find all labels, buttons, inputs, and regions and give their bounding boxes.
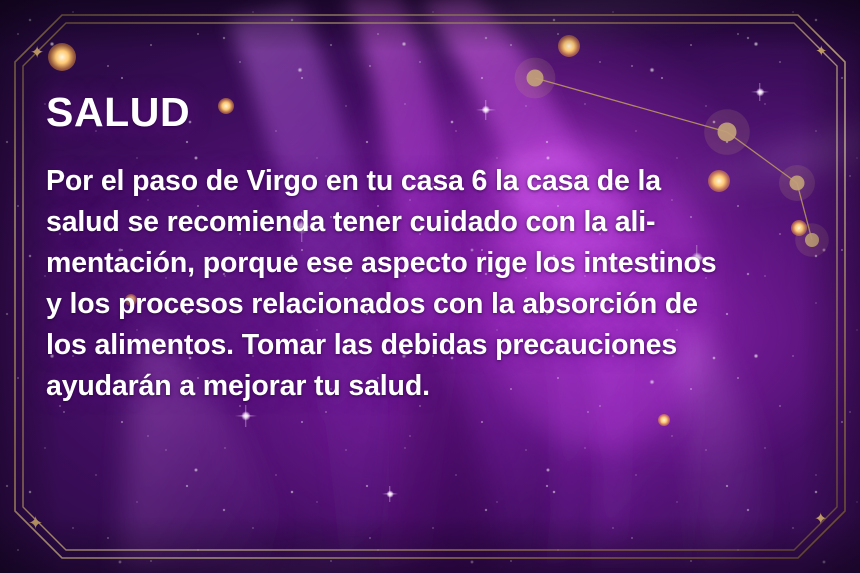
card-body-line: mentación, porque ese aspecto rige los i…: [46, 247, 717, 279]
card-body-line: Por el paso de Virgo en tu casa 6 la cas…: [46, 165, 661, 197]
horoscope-card: ✦ ✦ ✦ ✦ SALUD Por el paso de Virgo en tu…: [0, 0, 860, 573]
card-body-line: los alimentos. Tomar las debidas precauc…: [46, 329, 677, 361]
card-body-line: y los procesos relacionados con la absor…: [46, 288, 698, 320]
card-body-line: salud se recomienda tener cuidado con la…: [46, 206, 655, 238]
page-title: SALUD: [46, 92, 821, 133]
card-content: SALUD Por el paso de Virgo en tu casa 6 …: [46, 92, 821, 407]
card-body-line: ayudarán a mejorar tu salud.: [46, 370, 430, 402]
card-body-text: Por el paso de Virgo en tu casa 6 la cas…: [46, 161, 818, 407]
